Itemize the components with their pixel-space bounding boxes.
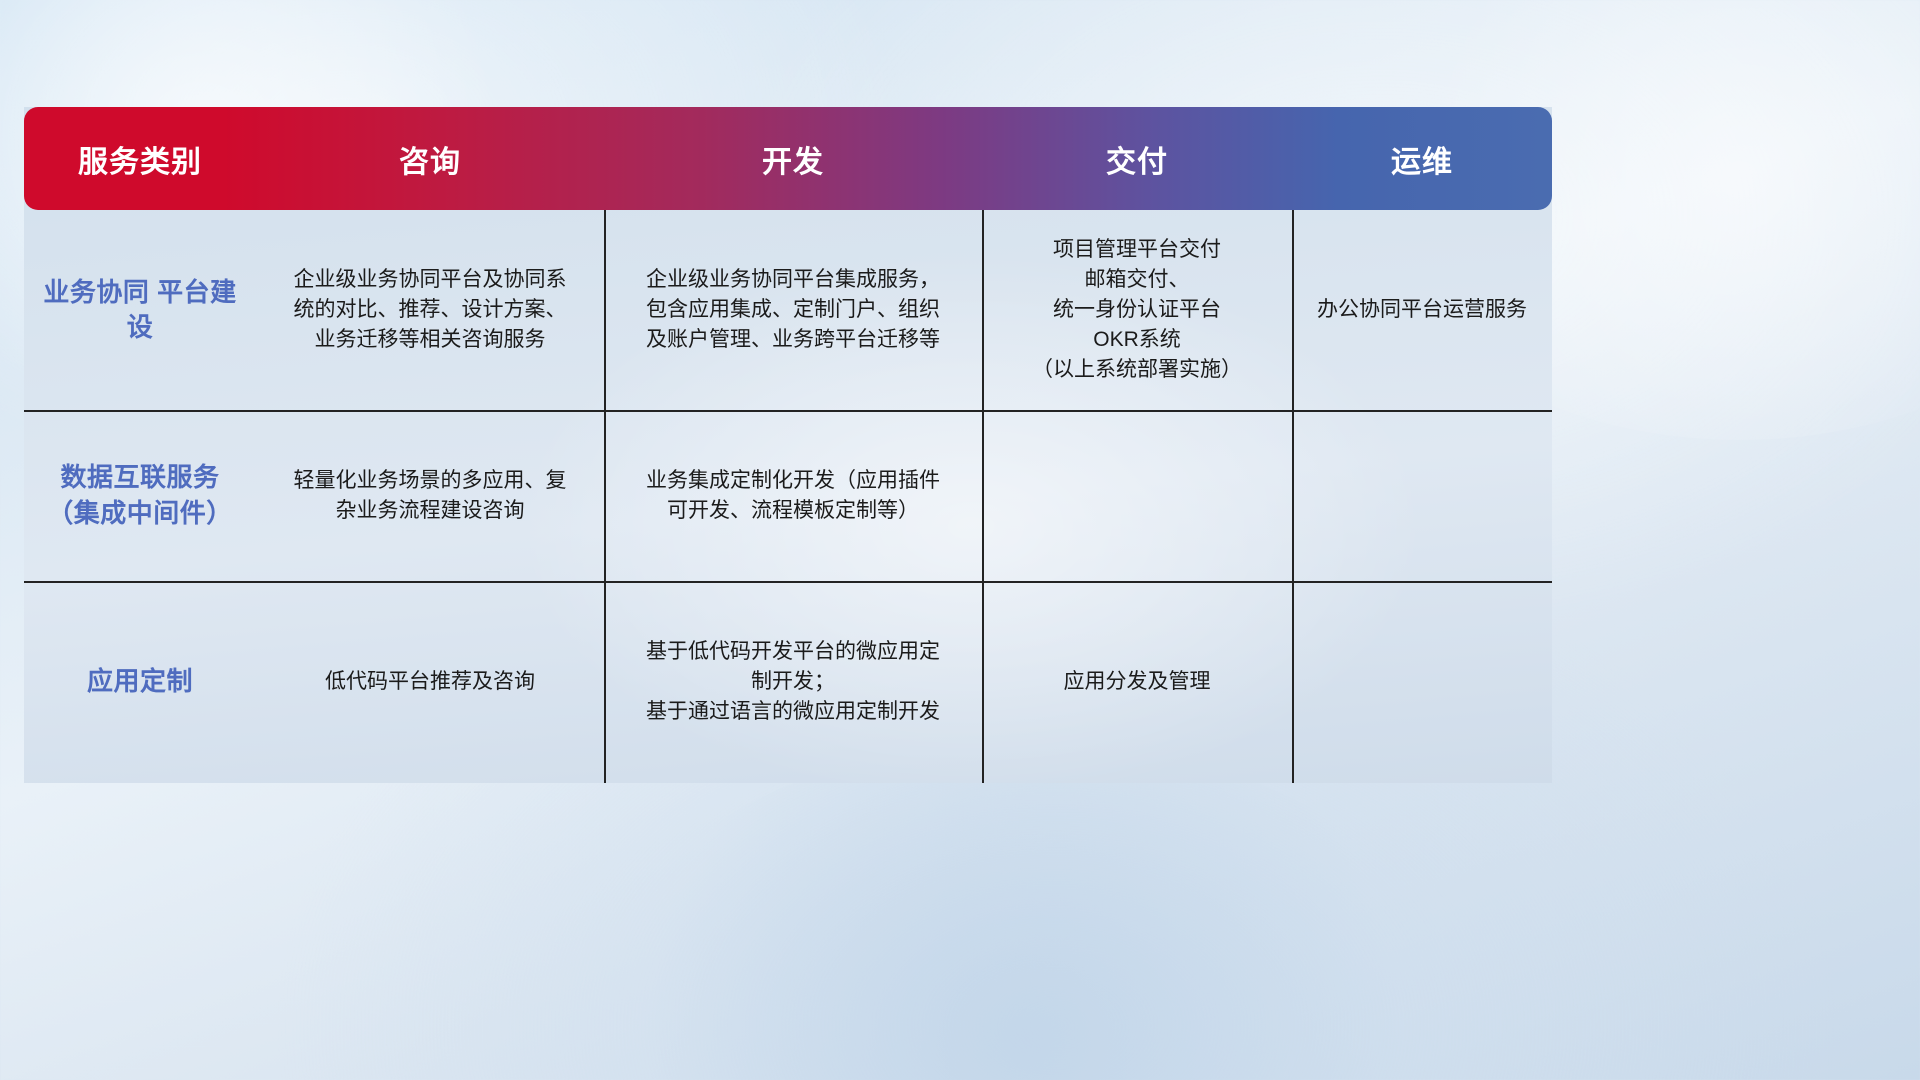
cell-operations — [1292, 581, 1552, 783]
cell-development: 业务集成定制化开发（应用插件 可开发、流程模板定制等） — [604, 410, 982, 581]
cell-delivery: 项目管理平台交付 邮箱交付、 统一身份认证平台 OKR系统 （以上系统部署实施） — [982, 210, 1292, 410]
cell-text: 应用分发及管理 — [1064, 667, 1211, 697]
cell-text: 项目管理平台交付 邮箱交付、 统一身份认证平台 OKR系统 （以上系统部署实施） — [1032, 235, 1242, 384]
column-header-consulting: 咨询 — [256, 137, 604, 181]
cell-consulting: 低代码平台推荐及咨询 — [256, 581, 604, 783]
row-label: 应用定制 — [87, 664, 193, 699]
table-row: 业务协同 平台建设 企业级业务协同平台及协同系 统的对比、推荐、设计方案、 业务… — [24, 210, 1552, 410]
column-header-operations: 运维 — [1292, 137, 1552, 181]
column-header-category: 服务类别 — [24, 137, 256, 181]
cell-text: 企业级业务协同平台及协同系 统的对比、推荐、设计方案、 业务迁移等相关咨询服务 — [294, 265, 567, 354]
table-row: 数据互联服务 （集成中间件） 轻量化业务场景的多应用、复 杂业务流程建设咨询 业… — [24, 410, 1552, 581]
cell-delivery: 应用分发及管理 — [982, 581, 1292, 783]
row-label: 业务协同 平台建设 — [36, 275, 244, 346]
cell-text: 基于低代码开发平台的微应用定 制开发； 基于通过语言的微应用定制开发 — [646, 637, 940, 726]
table-row: 应用定制 低代码平台推荐及咨询 基于低代码开发平台的微应用定 制开发； 基于通过… — [24, 581, 1552, 783]
cell-operations — [1292, 410, 1552, 581]
service-matrix-table: 服务类别 咨询 开发 交付 运维 业务协同 平台建设 企业级业务协同平台及协同系… — [24, 107, 1552, 783]
row-category-cell: 业务协同 平台建设 — [24, 210, 256, 410]
column-header-development: 开发 — [604, 137, 982, 181]
cell-text: 轻量化业务场景的多应用、复 杂业务流程建设咨询 — [294, 466, 567, 526]
table-body: 业务协同 平台建设 企业级业务协同平台及协同系 统的对比、推荐、设计方案、 业务… — [24, 210, 1552, 783]
cell-development: 基于低代码开发平台的微应用定 制开发； 基于通过语言的微应用定制开发 — [604, 581, 982, 783]
row-label: 数据互联服务 （集成中间件） — [36, 460, 244, 531]
background-bloom-bottom — [576, 740, 1476, 1080]
cell-text: 企业级业务协同平台集成服务， 包含应用集成、定制门户、组织 及账户管理、业务跨平… — [646, 265, 940, 354]
cell-text: 办公协同平台运营服务 — [1317, 295, 1527, 325]
cell-consulting: 轻量化业务场景的多应用、复 杂业务流程建设咨询 — [256, 410, 604, 581]
cell-text: 低代码平台推荐及咨询 — [325, 667, 535, 697]
row-category-cell: 应用定制 — [24, 581, 256, 783]
cell-text: 业务集成定制化开发（应用插件 可开发、流程模板定制等） — [646, 466, 940, 526]
cell-operations: 办公协同平台运营服务 — [1292, 210, 1552, 410]
row-category-cell: 数据互联服务 （集成中间件） — [24, 410, 256, 581]
column-header-delivery: 交付 — [982, 137, 1292, 181]
cell-consulting: 企业级业务协同平台及协同系 统的对比、推荐、设计方案、 业务迁移等相关咨询服务 — [256, 210, 604, 410]
cell-delivery — [982, 410, 1292, 581]
cell-development: 企业级业务协同平台集成服务， 包含应用集成、定制门户、组织 及账户管理、业务跨平… — [604, 210, 982, 410]
table-header-row: 服务类别 咨询 开发 交付 运维 — [24, 107, 1552, 210]
